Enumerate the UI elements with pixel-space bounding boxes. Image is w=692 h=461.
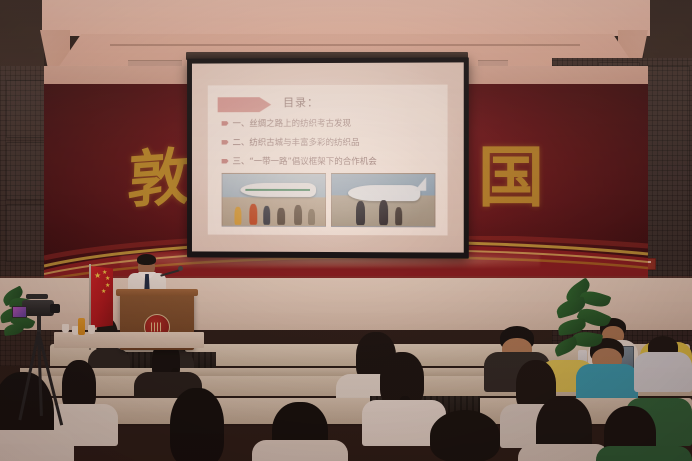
bullet-icon bbox=[222, 121, 229, 126]
backdrop-calligraphy-left: 敦 bbox=[126, 126, 191, 220]
ceiling-soffit-upper bbox=[42, 0, 650, 36]
camera-lcd-screen[interactable] bbox=[12, 306, 27, 318]
slide-item-text: 一、丝绸之路上的纺织考古发现 bbox=[233, 117, 352, 129]
slide-arrow-banner bbox=[218, 97, 272, 112]
paper-cup bbox=[62, 324, 69, 333]
lecture-hall-photo: 敦 国 目录： 一、丝绸之路上的纺织考古发现 二、 bbox=[0, 0, 692, 461]
chinese-national-flag: ★ ★ ★ ★ ★ bbox=[91, 266, 113, 328]
slide-photo-boarding bbox=[222, 173, 326, 227]
ceiling-reveal-line bbox=[110, 44, 580, 46]
screen-surface: 目录： 一、丝绸之路上的纺织考古发现 二、纺织古城与丰富多彩的纺织品 三、“一带… bbox=[192, 62, 464, 252]
slide-heading: 目录： bbox=[283, 94, 319, 110]
flag-star-large: ★ bbox=[94, 273, 101, 279]
paper-cup bbox=[88, 325, 95, 334]
list-item: 二、纺织古城与丰富多彩的纺织品 bbox=[222, 136, 438, 148]
slide-item-text: 二、纺织古城与丰富多彩的纺织品 bbox=[233, 136, 360, 148]
ceiling-corner-left bbox=[0, 0, 44, 74]
flag-star-small: ★ bbox=[101, 289, 106, 295]
list-item: 三、“一带一路”倡议框架下的合作机会 bbox=[222, 155, 438, 167]
bullet-icon bbox=[222, 158, 229, 163]
slide-agenda-list: 一、丝绸之路上的纺织考古发现 二、纺织古城与丰富多彩的纺织品 三、“一带一路”倡… bbox=[222, 117, 438, 174]
microphone-icon bbox=[178, 266, 183, 271]
slide-image-row bbox=[222, 173, 436, 227]
backdrop-calligraphy-right: 国 bbox=[478, 124, 544, 220]
potted-plant-right bbox=[554, 284, 618, 362]
slide-photo-tarmac bbox=[330, 173, 435, 227]
speaker-hair bbox=[137, 254, 156, 265]
bullet-icon bbox=[222, 140, 229, 145]
podium-top-surface bbox=[116, 289, 198, 296]
projection-screen[interactable]: 目录： 一、丝绸之路上的纺织考古发现 二、纺织古城与丰富多彩的纺织品 三、“一带… bbox=[187, 57, 469, 258]
flag-star-small: ★ bbox=[105, 276, 110, 282]
slide-item-text: 三、“一带一路”倡议框架下的合作机会 bbox=[233, 155, 377, 167]
presentation-slide: 目录： 一、丝绸之路上的纺织考古发现 二、纺织古城与丰富多彩的纺织品 三、“一带… bbox=[208, 85, 448, 236]
camera-handle bbox=[26, 294, 48, 299]
camera-lens-icon bbox=[50, 304, 60, 313]
list-item: 一、丝绸之路上的纺织考古发现 bbox=[222, 117, 438, 129]
drink-bottle bbox=[78, 318, 85, 335]
